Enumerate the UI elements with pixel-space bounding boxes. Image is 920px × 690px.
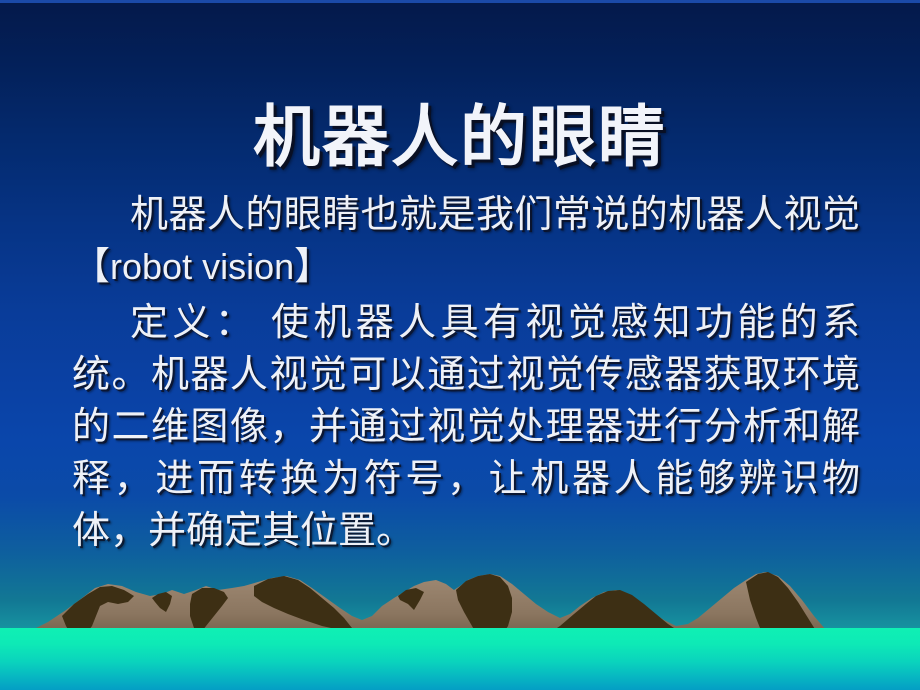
paragraph-1-lead-text: 机器人的眼睛也就是我们常说的机器人视觉 [130,194,860,236]
accent-color-block [0,628,920,690]
robot-vision-term: robot vision [110,246,294,287]
presentation-slide: 机器人的眼睛 机器人的眼睛也就是我们常说的机器人视觉【robot vision】… [0,0,920,690]
paragraph-2-lead-text: 定义： 使机器人具有视觉感知功能的系统。机器人视觉可以通过视觉传感器获取环境的二… [72,302,860,552]
slide-body: 机器人的眼睛也就是我们常说的机器人视觉【robot vision】 定义： 使机… [20,189,860,557]
body-paragraph-2: 定义： 使机器人具有视觉感知功能的系统。机器人视觉可以通过视觉传感器获取环境的二… [20,297,860,557]
slide-top-edge-strip [0,0,920,3]
bracket-open-glyph: 【 [72,246,110,288]
bracket-close-glyph: 】 [294,246,332,288]
body-paragraph-1: 机器人的眼睛也就是我们常说的机器人视觉【robot vision】 [20,189,860,293]
slide-title: 机器人的眼睛 [0,105,920,172]
